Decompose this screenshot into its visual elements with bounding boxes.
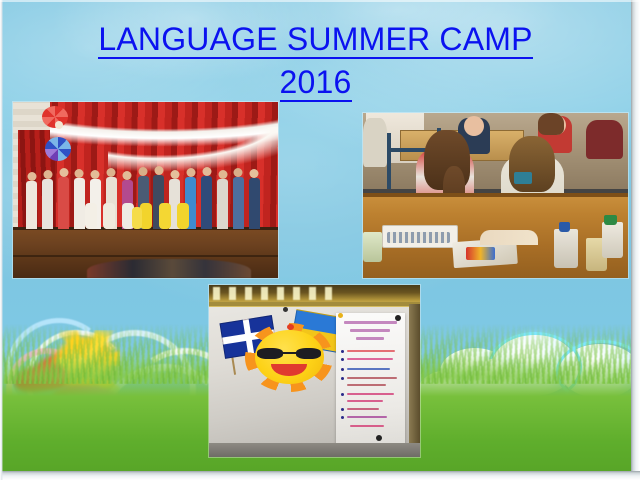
slide-title: LANGUAGE SUMMER CAMP 2016	[0, 22, 631, 102]
alphabet-strip	[213, 287, 340, 301]
presentation-slide: LANGUAGE SUMMER CAMP 2016	[0, 0, 640, 480]
background-child	[586, 120, 623, 160]
photo-whiteboard-sun[interactable]	[209, 285, 420, 457]
title-line-2: 2016	[280, 65, 352, 102]
handwritten-poster	[336, 313, 406, 447]
background-child	[363, 118, 387, 168]
title-line-1: LANGUAGE SUMMER CAMP	[98, 22, 532, 59]
photo-classroom-craft[interactable]	[363, 113, 628, 278]
sunglasses-icon	[257, 348, 321, 359]
paper-sun-decoration	[245, 323, 334, 392]
photo-group-on-stage[interactable]	[13, 102, 278, 278]
